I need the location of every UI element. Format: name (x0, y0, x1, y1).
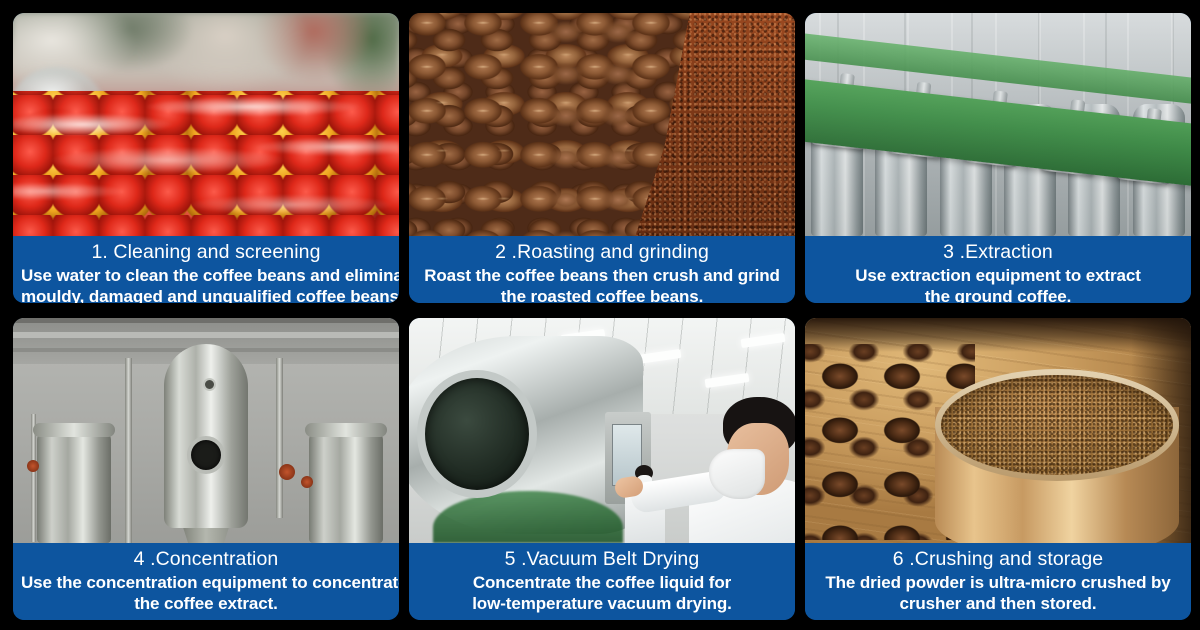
step-card-4[interactable]: 4 .Concentration Use the concentration e… (13, 318, 399, 620)
step-3-desc-line-2: the ground coffee. (813, 287, 1183, 304)
step-6-desc-line-1: The dried powder is ultra-micro crushed … (813, 573, 1183, 594)
side-vessel-right (309, 431, 383, 543)
step-1-photo-coffee-cherries-washing (13, 13, 399, 236)
step-2-title: 2 .Roasting and grinding (417, 240, 787, 265)
step-5-caption: 5 .Vacuum Belt Drying Concentrate the co… (409, 543, 795, 620)
step-2-caption: 2 .Roasting and grinding Roast the coffe… (409, 236, 795, 303)
operator-face-mask (709, 449, 765, 499)
vertical-pipe (125, 358, 132, 543)
step-2-desc-line-2: the roasted coffee beans. (417, 287, 787, 304)
step-card-1[interactable]: 1. Cleaning and screening Use water to c… (13, 13, 399, 303)
step-5-title: 5 .Vacuum Belt Drying (417, 547, 787, 572)
step-3-title: 3 .Extraction (813, 240, 1183, 265)
step-3-caption: 3 .Extraction Use extraction equipment t… (805, 236, 1191, 303)
step-3-description: Use extraction equipment to extract the … (813, 266, 1183, 303)
step-6-photo-instant-coffee-powder (805, 318, 1191, 543)
step-4-title: 4 .Concentration (21, 547, 391, 572)
step-1-description: Use water to clean the coffee beans and … (21, 266, 391, 303)
transition-beans (540, 13, 640, 236)
step-5-desc-line-1: Concentrate the coffee liquid for (417, 573, 787, 594)
step-2-desc-line-1: Roast the coffee beans then crush and gr… (417, 266, 787, 287)
vertical-pipe (276, 358, 283, 518)
step-5-desc-line-2: low-temperature vacuum drying. (417, 594, 787, 615)
process-steps-grid: 1. Cleaning and screening Use water to c… (0, 0, 1200, 630)
control-valve (27, 460, 39, 472)
side-vessel-left (37, 431, 111, 543)
depth-haze (805, 13, 1191, 236)
coffee-powder-tin (935, 351, 1179, 543)
step-card-6[interactable]: 6 .Crushing and storage The dried powder… (805, 318, 1191, 620)
step-2-description: Roast the coffee beans then crush and gr… (417, 266, 787, 303)
foreground-operator (679, 397, 795, 543)
step-4-photo-concentration-equipment (13, 318, 399, 543)
step-4-caption: 4 .Concentration Use the concentration e… (13, 543, 399, 620)
dryer-access-door (417, 370, 537, 498)
step-1-title: 1. Cleaning and screening (21, 240, 391, 265)
instant-coffee-granules (941, 375, 1173, 475)
step-1-caption: 1. Cleaning and screening Use water to c… (13, 236, 399, 303)
step-1-desc-line-2: mouldy, damaged and unqualified coffee b… (21, 287, 391, 304)
step-6-title: 6 .Crushing and storage (813, 547, 1183, 572)
main-concentration-vessel (164, 344, 248, 528)
step-4-desc-line-1: Use the concentration equipment to conce… (21, 573, 391, 594)
control-valve (301, 476, 313, 488)
step-2-photo-beans-and-grounds (409, 13, 795, 236)
step-6-desc-line-2: crusher and then stored. (813, 594, 1183, 615)
small-viewport (203, 378, 216, 391)
step-3-desc-line-1: Use extraction equipment to extract (813, 266, 1183, 287)
step-6-description: The dried powder is ultra-micro crushed … (813, 573, 1183, 614)
step-card-5[interactable]: 5 .Vacuum Belt Drying Concentrate the co… (409, 318, 795, 620)
water-foam (13, 13, 399, 236)
step-4-description: Use the concentration equipment to conce… (21, 573, 391, 614)
control-valve (279, 464, 295, 480)
sight-glass-porthole (187, 436, 225, 474)
step-5-photo-vacuum-belt-dryer (409, 318, 795, 543)
step-4-desc-line-2: the coffee extract. (21, 594, 391, 615)
step-card-2[interactable]: 2 .Roasting and grinding Roast the coffe… (409, 13, 795, 303)
step-3-photo-extraction-plant (805, 13, 1191, 236)
step-6-caption: 6 .Crushing and storage The dried powder… (805, 543, 1191, 620)
step-5-description: Concentrate the coffee liquid for low-te… (417, 573, 787, 614)
step-card-3[interactable]: 3 .Extraction Use extraction equipment t… (805, 13, 1191, 303)
step-1-desc-line-1: Use water to clean the coffee beans and … (21, 266, 391, 287)
